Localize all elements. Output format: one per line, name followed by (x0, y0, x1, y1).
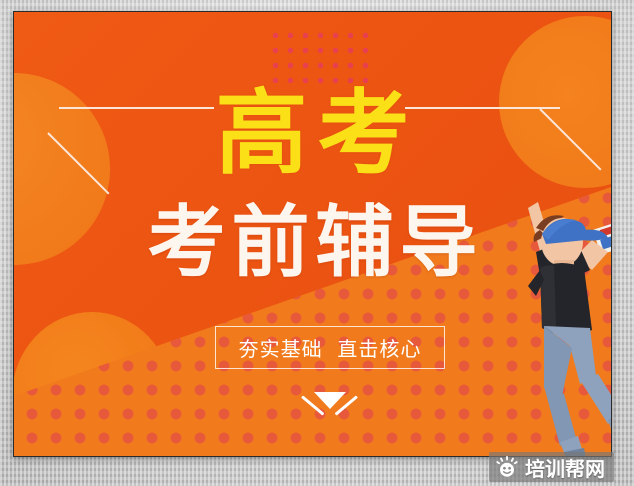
watermark-text: 培训帮网 (525, 453, 605, 482)
tagline-text: 夯实基础 直击核心 (239, 333, 422, 362)
decor-circle-tonal (192, 375, 264, 447)
decor-circle-left-bottom (13, 312, 172, 457)
smiley-burst-icon (496, 456, 518, 478)
poster-canvas: 高考 考前辅导 夯实基础 直击核心 (13, 11, 612, 457)
down-chevron-icon (300, 390, 360, 432)
headline-secondary: 考前辅导 (14, 203, 611, 283)
headline-primary: 高考 (14, 88, 611, 180)
magenta-dot-grid (266, 26, 372, 84)
tagline-box: 夯实基础 直击核心 (215, 326, 445, 369)
watermark: 培训帮网 (489, 452, 614, 482)
